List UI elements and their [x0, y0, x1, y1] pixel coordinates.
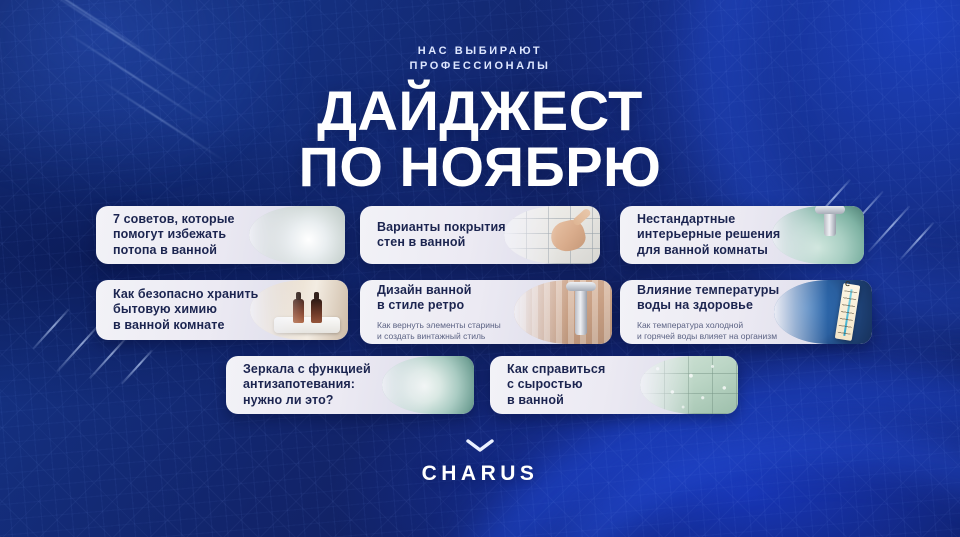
digest-card[interactable]: Как справиться с сыростью в ванной: [490, 356, 738, 414]
digest-card[interactable]: Как безопасно хранить бытовую химию в ва…: [96, 280, 348, 340]
card-title: Как справиться с сыростью в ванной: [507, 362, 667, 409]
spray-bottle-icon: [311, 299, 322, 323]
digest-card[interactable]: Дизайн ванной в стиле ретро Как вернуть …: [360, 280, 612, 344]
digest-poster: НАС ВЫБИРАЮТ ПРОФЕССИОНАЛЫ ДАЙДЖЕСТ ПО Н…: [0, 0, 960, 537]
faucet-icon: [575, 289, 587, 335]
card-subtitle: Как температура холодной и горячей воды …: [637, 320, 813, 342]
digest-card-grid: 7 советов, которые помогут избежать пото…: [0, 0, 960, 537]
brand-logo: CHARUS: [0, 462, 960, 486]
card-title: Как безопасно хранить бытовую химию в ва…: [113, 287, 285, 334]
card-title: Нестандартные интерьерные решения для ва…: [637, 212, 807, 259]
card-title: Дизайн ванной в стиле ретро: [377, 283, 549, 314]
pointing-hand-icon: [548, 217, 588, 254]
thermometer-icon: [835, 283, 861, 341]
digest-card[interactable]: 7 советов, которые помогут избежать пото…: [96, 206, 345, 264]
card-subtitle: Как вернуть элементы старины и создать в…: [377, 320, 549, 342]
card-title: Зеркала с функцией антизапотевания: нужн…: [243, 362, 413, 409]
thermometer-celsius-label: C: [839, 280, 857, 290]
card-title: Варианты покрытия стен в ванной: [377, 220, 537, 251]
faucet-icon: [824, 212, 836, 236]
card-title: Влияние температуры воды на здоровье: [637, 283, 813, 314]
chevron-down-icon: [0, 436, 960, 455]
digest-card[interactable]: Варианты покрытия стен в ванной: [360, 206, 600, 264]
digest-card[interactable]: Нестандартные интерьерные решения для ва…: [620, 206, 864, 264]
card-title: 7 советов, которые помогут избежать пото…: [113, 212, 281, 259]
digest-card[interactable]: C Влияние температуры воды на здоровье К…: [620, 280, 872, 344]
digest-card[interactable]: Зеркала с функцией антизапотевания: нужн…: [226, 356, 474, 414]
